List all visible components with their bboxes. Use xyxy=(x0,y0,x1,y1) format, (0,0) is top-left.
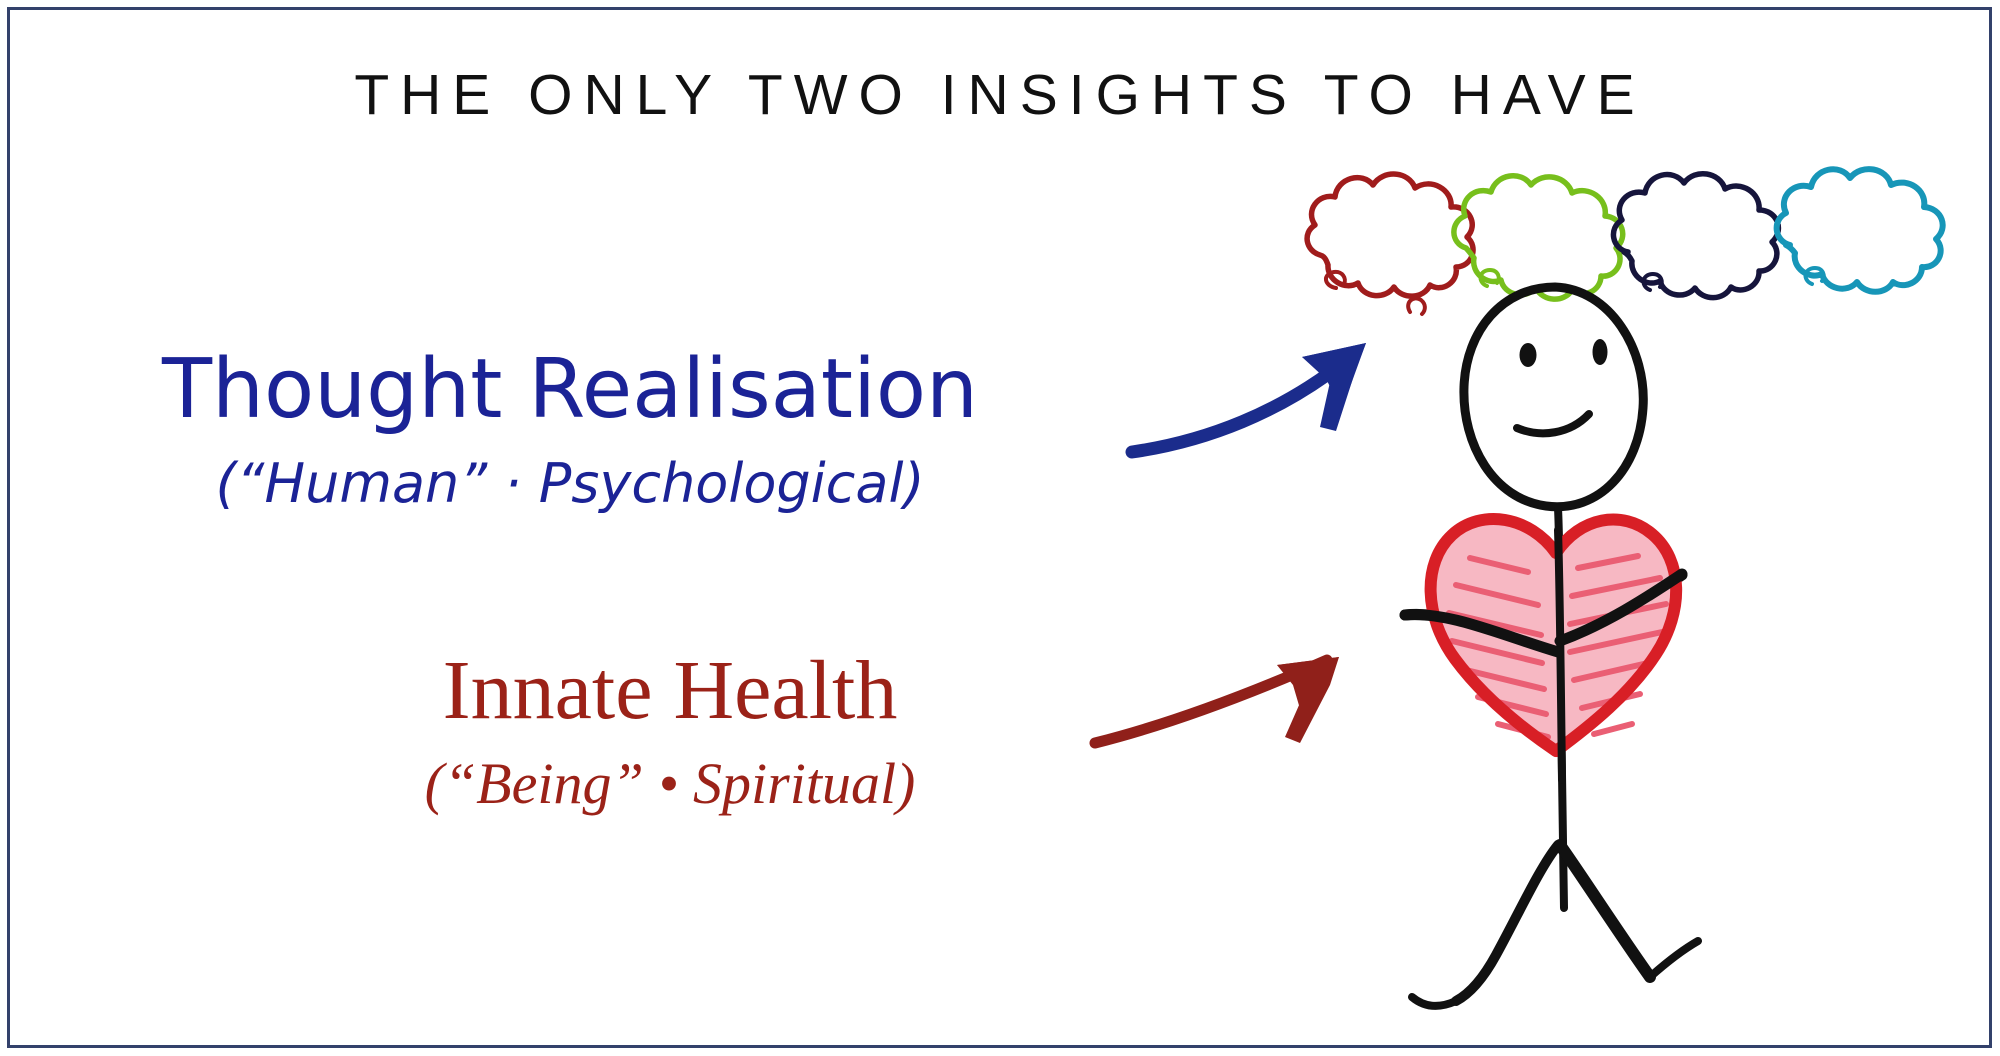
leg-left xyxy=(1456,845,1558,1001)
cloud-red-icon xyxy=(1307,174,1473,296)
mouth-smile-icon xyxy=(1517,414,1589,433)
head-outline xyxy=(1464,287,1643,507)
arrow-red-head-solid xyxy=(1277,657,1339,719)
insight-thought-realisation: Thought Realisation (“Human” · Psycholog… xyxy=(60,348,1080,513)
cloud-navy-icon xyxy=(1613,174,1778,298)
eye-left-icon xyxy=(1520,343,1537,367)
leg-right xyxy=(1560,845,1650,977)
slide-canvas: THE ONLY TWO INSIGHTS TO HAVE xyxy=(0,0,2000,1056)
arrow-thought-realisation xyxy=(1132,343,1366,452)
arrow-innate-health xyxy=(1095,657,1339,743)
cloud-teal-icon xyxy=(1777,169,1943,292)
insight-headline-innate-health: Innate Health xyxy=(240,648,1100,734)
insight-subtitle-thought-realisation: (“Human” · Psychological) xyxy=(60,454,1080,513)
eye-right-icon xyxy=(1593,339,1608,365)
thought-clouds xyxy=(1307,169,1943,314)
cloud-red-notch2 xyxy=(1408,298,1425,314)
insight-subtitle-innate-health: (“Being” • Spiritual) xyxy=(240,752,1100,816)
insight-innate-health: Innate Health (“Being” • Spiritual) xyxy=(240,648,1100,815)
foot-right xyxy=(1650,941,1698,977)
insight-headline-thought-realisation: Thought Realisation xyxy=(60,348,1080,432)
foot-left xyxy=(1412,997,1456,1006)
illustration xyxy=(0,0,2000,1056)
